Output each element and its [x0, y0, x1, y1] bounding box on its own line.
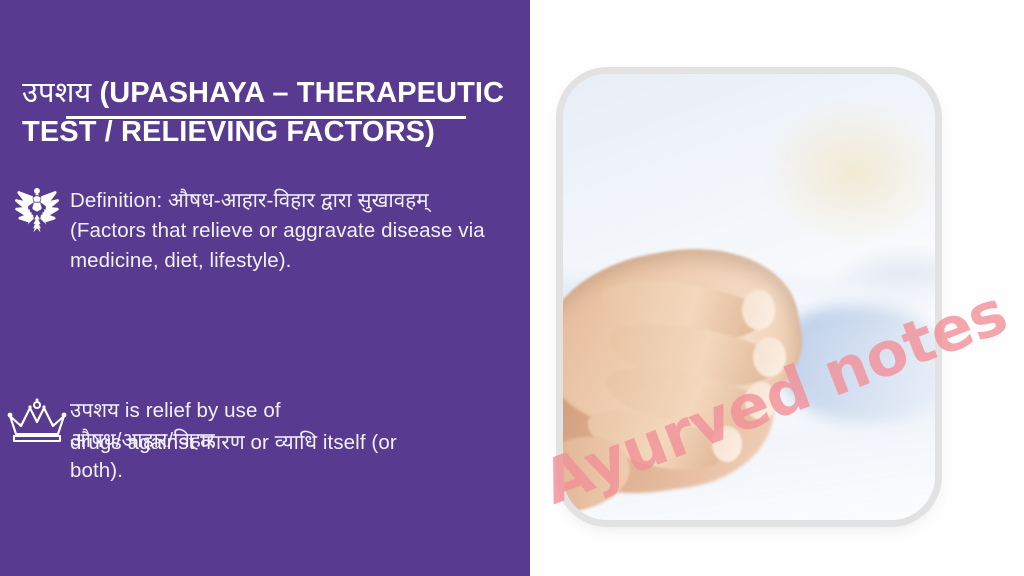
bullet-relief-line-1: उपशय is relief by use of	[70, 396, 520, 426]
photo-nail-1	[742, 290, 775, 330]
slide-canvas: उपशय (UPASHAYA – THERAPEUTIC TEST / RELI…	[0, 0, 1024, 576]
title-english: (UPASHAYA – THERAPEUTIC	[99, 77, 504, 109]
bullet-relief-line-3: both).	[70, 456, 520, 486]
page-title: उपशय (UPASHAYA – THERAPEUTIC TEST / RELI…	[22, 74, 542, 151]
bullet-relief-overlap-group: उपशय is relief by use of औषध/आहार/विहार …	[70, 396, 520, 486]
photo-nail-2	[753, 337, 786, 377]
photo-blue-fold	[779, 306, 935, 422]
bullet-relief: उपशय is relief by use of औषध/आहार/विहार …	[4, 396, 524, 486]
bullet-relief-text: उपशय is relief by use of औषध/आहार/विहार …	[70, 396, 520, 486]
photo-nail-3	[745, 382, 777, 420]
photo-nail-4	[712, 426, 742, 462]
title-line-1: उपशय (UPASHAYA – THERAPEUTIC	[22, 74, 542, 113]
bullet-relief-overlap-text: drugs against कारण or व्याधि itself (or	[70, 428, 397, 458]
title-underline	[66, 116, 466, 119]
crown-icon	[4, 396, 70, 444]
bullet-definition: Definition: औषध-आहार-विहार द्वारा सुखावह…	[4, 184, 524, 276]
photo-hands-on-hospital-bed	[563, 74, 935, 520]
phoenix-icon	[4, 184, 70, 236]
bullet-definition-text: Definition: औषध-आहार-विहार द्वारा सुखावह…	[70, 184, 500, 276]
title-devanagari: उपशय	[22, 77, 99, 109]
